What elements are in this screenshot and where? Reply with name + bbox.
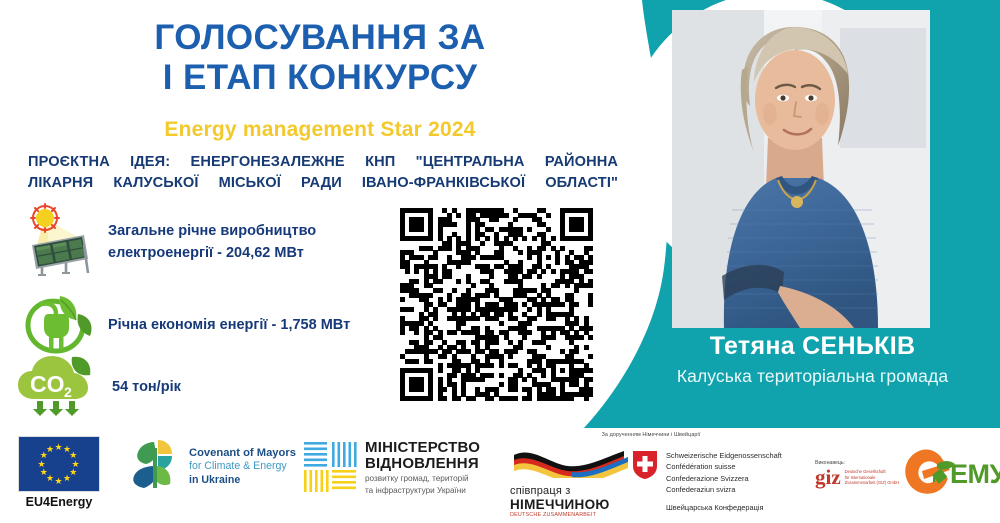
stat-electricity-production: Загальне річне виробництво електроенергі…: [20, 203, 316, 282]
german-ukraine-ribbon-icon: [510, 465, 628, 482]
eu-star-icon: ★: [55, 443, 63, 452]
covenant-line-3: in Ukraine: [189, 474, 296, 488]
qr-code[interactable]: [400, 208, 593, 401]
covenant-leaf-icon: [128, 438, 182, 495]
germany-line-1: співпраця з: [510, 485, 628, 497]
stat-co2-text: 54 тон/рік: [112, 377, 181, 399]
project-idea-line-1: ПРОЄКТНА ІДЕЯ: ЕНЕРГОНЕЗАЛЕЖНЕ КНП "ЦЕНТ…: [28, 152, 618, 173]
stat-energy-savings: Річна економія енергії - 1,758 МВт: [20, 292, 350, 359]
stat-energy-savings-text: Річна економія енергії - 1,758 МВт: [108, 315, 350, 337]
eu4energy-label: EU4Energy: [18, 495, 100, 509]
swiss-line-1: Schweizerische Eidgenossenschaft: [666, 450, 782, 461]
page-title: ГОЛОСУВАННЯ ЗА І ЕТАП КОНКУРСУ: [0, 18, 640, 98]
headline-line-2: І ЕТАП КОНКУРСУ: [0, 58, 640, 98]
portrait-photo: [672, 10, 930, 328]
ministry-text: МІНІСТЕРСТВО ВІДНОВЛЕННЯ розвитку громад…: [365, 440, 480, 496]
ministry-line-2: ВІДНОВЛЕННЯ: [365, 456, 480, 472]
solar-panel-icon: [20, 203, 94, 282]
covenant-line-1: Covenant of Mayors: [189, 446, 296, 460]
logo-ministry: МІНІСТЕРСТВО ВІДНОВЛЕННЯ розвитку громад…: [303, 440, 480, 499]
poster-canvas: ГОЛОСУВАННЯ ЗА І ЕТАП КОНКУРСУ Energy ma…: [0, 0, 1000, 523]
logo-germany-cooperation: співпраця з НІМЕЧЧИНОЮ DEUTSCHE ZUSAMMEN…: [510, 448, 628, 518]
giz-subtext: Deutsche Gesellschaft für Internationale…: [845, 469, 899, 486]
footer-logos: ★★★★★★★★★★★★ EU4Energy Covenant of Mayor…: [0, 428, 1000, 523]
swiss-text: Schweizerische Eidgenossenschaft Confédé…: [666, 450, 782, 513]
co2-cloud-icon: CO 2: [12, 353, 98, 422]
covenant-text: Covenant of Mayors for Climate & Energy …: [189, 446, 296, 487]
germany-line-2: НІМЕЧЧИНОЮ: [510, 497, 628, 512]
subtitle: Energy management Star 2024: [0, 118, 640, 142]
svg-text:2: 2: [64, 384, 72, 400]
ministry-sub-2: та інфраструктури України: [365, 486, 480, 496]
eu-star-icon: ★: [63, 474, 71, 483]
germany-line-3: DEUTSCHE ZUSAMMENARBEIT: [510, 512, 628, 518]
headline-line-1: ГОЛОСУВАННЯ ЗА: [0, 18, 640, 58]
swiss-cross-icon: [632, 450, 658, 485]
swiss-line-2: Confédération suisse: [666, 461, 782, 472]
giz-line-3: Zusammenarbeit (GIZ) GmbH: [845, 480, 899, 486]
person-community: Калуська територіальна громада: [640, 366, 985, 387]
stat-electricity-production-text: Загальне річне виробництво електроенергі…: [108, 221, 316, 265]
germany-text: співпраця з НІМЕЧЧИНОЮ DEUTSCHE ZUSAMMEN…: [510, 485, 628, 518]
project-idea: ПРОЄКТНА ІДЕЯ: ЕНЕРГОНЕЗАЛЕЖНЕ КНП "ЦЕНТ…: [28, 152, 618, 193]
eu-star-icon: ★: [46, 445, 54, 454]
eu-star-icon: ★: [38, 460, 46, 469]
logo-eu4energy: ★★★★★★★★★★★★ EU4Energy: [18, 436, 100, 509]
giz-wordmark: giz: [815, 468, 841, 487]
plug-leaf-icon: [20, 292, 94, 359]
logo-swiss-confederation: Schweizerische Eidgenossenschaft Confédé…: [632, 450, 782, 513]
stat-co2: CO 2 54 тон/рік: [12, 353, 181, 422]
commission-note: За дорученням Німеччини і Швейцарії: [596, 432, 706, 438]
swiss-line-5: Швейцарська Конфедерація: [666, 502, 782, 513]
person-name: Тетяна СЕНЬКІВ: [640, 332, 985, 361]
emu-label: ЕМУ: [950, 459, 1000, 490]
emu-e-leaf-icon: [900, 444, 956, 505]
ministry-sub-1: розвитку громад, територій: [365, 474, 480, 484]
logo-emu: ЕМУ: [900, 444, 1000, 505]
swiss-line-4: Confederaziun svizra: [666, 484, 782, 495]
eu-star-icon: ★: [40, 468, 48, 477]
ministry-line-1: МІНІСТЕРСТВО: [365, 440, 480, 456]
covenant-line-2: for Climate & Energy: [189, 460, 296, 474]
eu-star-icon: ★: [55, 477, 63, 486]
svg-text:CO: CO: [30, 371, 65, 397]
project-idea-line-2: ЛІКАРНЯ КАЛУСЬКОЇ МІСЬКОЇ РАДИ ІВАНО-ФРА…: [28, 173, 618, 194]
eu-flag-icon: ★★★★★★★★★★★★: [18, 436, 100, 492]
logo-covenant-of-mayors: Covenant of Mayors for Climate & Energy …: [128, 438, 296, 495]
ministry-mark-icon: [303, 440, 357, 499]
logo-giz: Виконавець: giz Deutsche Gesellschaft fü…: [815, 460, 899, 487]
swiss-line-3: Confederazione Svizzera: [666, 473, 782, 484]
